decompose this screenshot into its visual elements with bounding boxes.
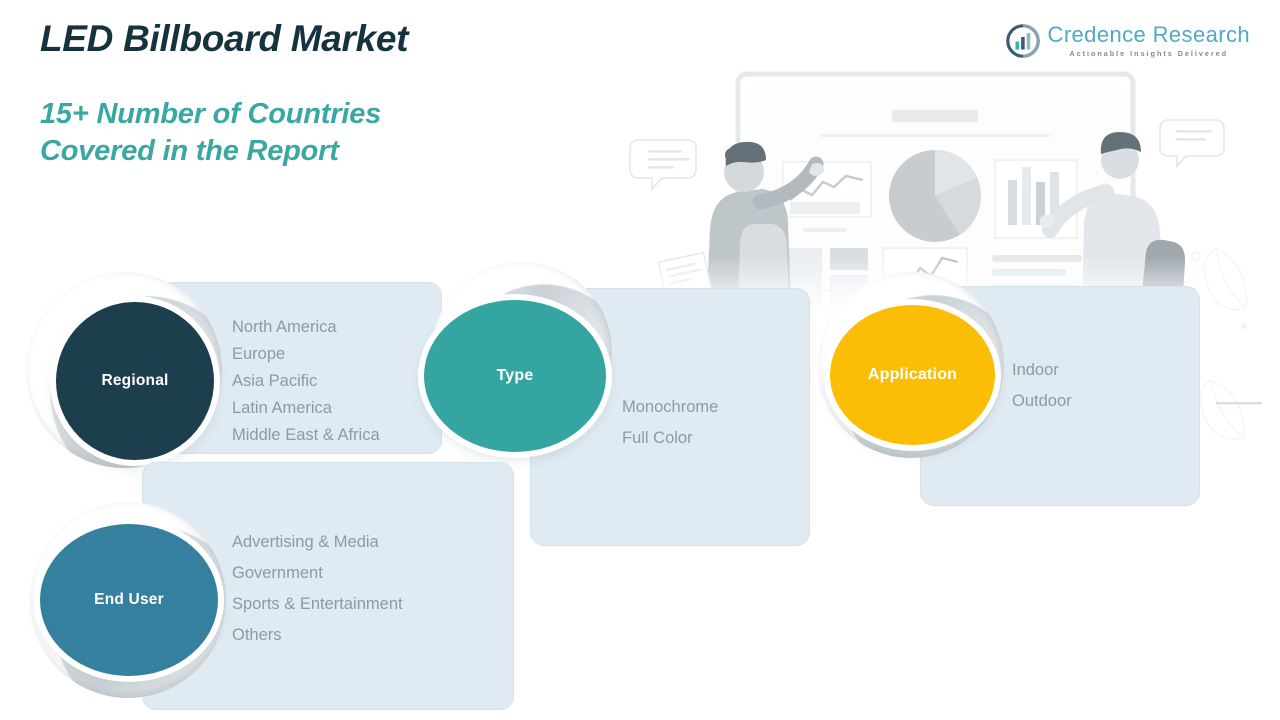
segment-bubble-end-user[interactable]: End User [40, 524, 218, 676]
list-item: Asia Pacific [232, 368, 380, 395]
brand-logo[interactable]: Credence Research Actionable Insights De… [1006, 24, 1250, 58]
list-item: Government [232, 558, 403, 589]
segment-list-end-user: Advertising & Media Government Sports & … [232, 527, 403, 651]
list-item: North America [232, 314, 380, 341]
list-item: Indoor [1012, 355, 1072, 386]
segment-bubble-regional[interactable]: Regional [56, 302, 214, 460]
segment-list-type: Monochrome Full Color [622, 392, 718, 455]
list-item: Full Color [622, 423, 718, 454]
list-item: Latin America [232, 395, 380, 422]
page-title: LED Billboard Market [40, 18, 408, 60]
logo-tagline: Actionable Insights Delivered [1048, 50, 1250, 57]
segment-bubble-type[interactable]: Type [424, 300, 606, 452]
speech-bubble-right [1160, 120, 1224, 166]
list-item: Middle East & Africa [232, 422, 380, 449]
list-item: Outdoor [1012, 386, 1072, 417]
list-item: Europe [232, 341, 380, 368]
segment-list-regional: North America Europe Asia Pacific Latin … [232, 314, 380, 448]
segment-label-type: Type [497, 367, 534, 385]
segment-label-end-user: End User [94, 591, 164, 609]
list-item: Monochrome [622, 392, 718, 423]
list-item: Advertising & Media [232, 527, 403, 558]
bar-chart-circle-icon [1006, 24, 1040, 58]
list-item: Sports & Entertainment [232, 589, 403, 620]
segment-label-application: Application [868, 366, 957, 384]
speech-bubble-left [630, 140, 696, 189]
logo-name: Credence Research [1048, 24, 1250, 46]
segment-bubble-application[interactable]: Application [830, 305, 995, 445]
page-subtitle: 15+ Number of Countries Covered in the R… [40, 96, 381, 171]
segment-list-application: Indoor Outdoor [1012, 355, 1072, 418]
list-item: Others [232, 620, 403, 651]
segment-label-regional: Regional [101, 372, 168, 390]
slide-canvas: LED Billboard Market 15+ Number of Count… [0, 0, 1280, 720]
